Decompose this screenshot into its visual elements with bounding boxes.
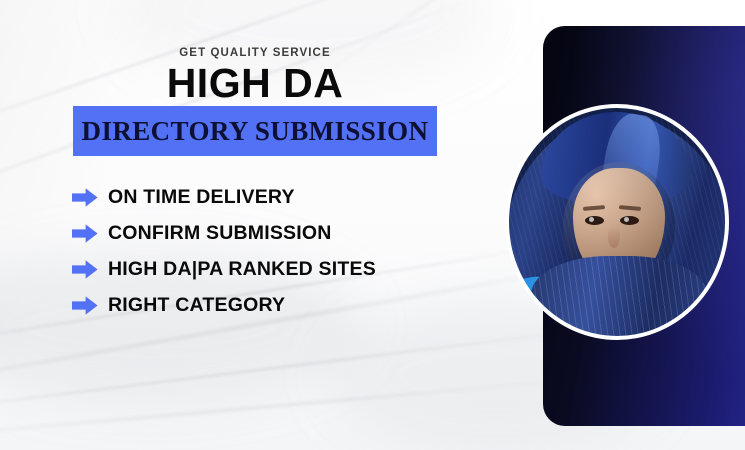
list-item: CONFIRM SUBMISSION [72,216,472,250]
avatar-ring [505,104,729,340]
headline-column: GET QUALITY SERVICE HIGH DA DIRECTORY SU… [0,0,470,450]
avatar: portrait-of-woman-in-blue-hijab [505,104,729,340]
gig-thumbnail-canvas: GET QUALITY SERVICE HIGH DA DIRECTORY SU… [0,0,745,450]
page-title: HIGH DA [73,60,437,106]
right-arrow-icon [72,188,98,207]
list-item-label: CONFIRM SUBMISSION [108,222,332,245]
list-item: ON TIME DELIVERY [72,180,472,214]
list-item-label: HIGH DA|PA RANKED SITES [108,258,376,281]
right-arrow-icon [72,296,98,315]
highlight-bar: DIRECTORY SUBMISSION [73,106,437,156]
highlight-bar-text: DIRECTORY SUBMISSION [82,116,429,147]
list-item-label: ON TIME DELIVERY [108,186,295,209]
list-item: HIGH DA|PA RANKED SITES [72,252,472,286]
list-item-label: RIGHT CATEGORY [108,294,285,317]
list-item: RIGHT CATEGORY [72,288,472,322]
feature-list: ON TIME DELIVERY CONFIRM SUBMISSION HIGH… [72,180,472,324]
portrait-alt-text: portrait-of-woman-in-blue-hijab [505,104,506,105]
eyebrow-text: GET QUALITY SERVICE [73,47,437,59]
right-arrow-icon [72,224,98,243]
right-arrow-icon [72,260,98,279]
